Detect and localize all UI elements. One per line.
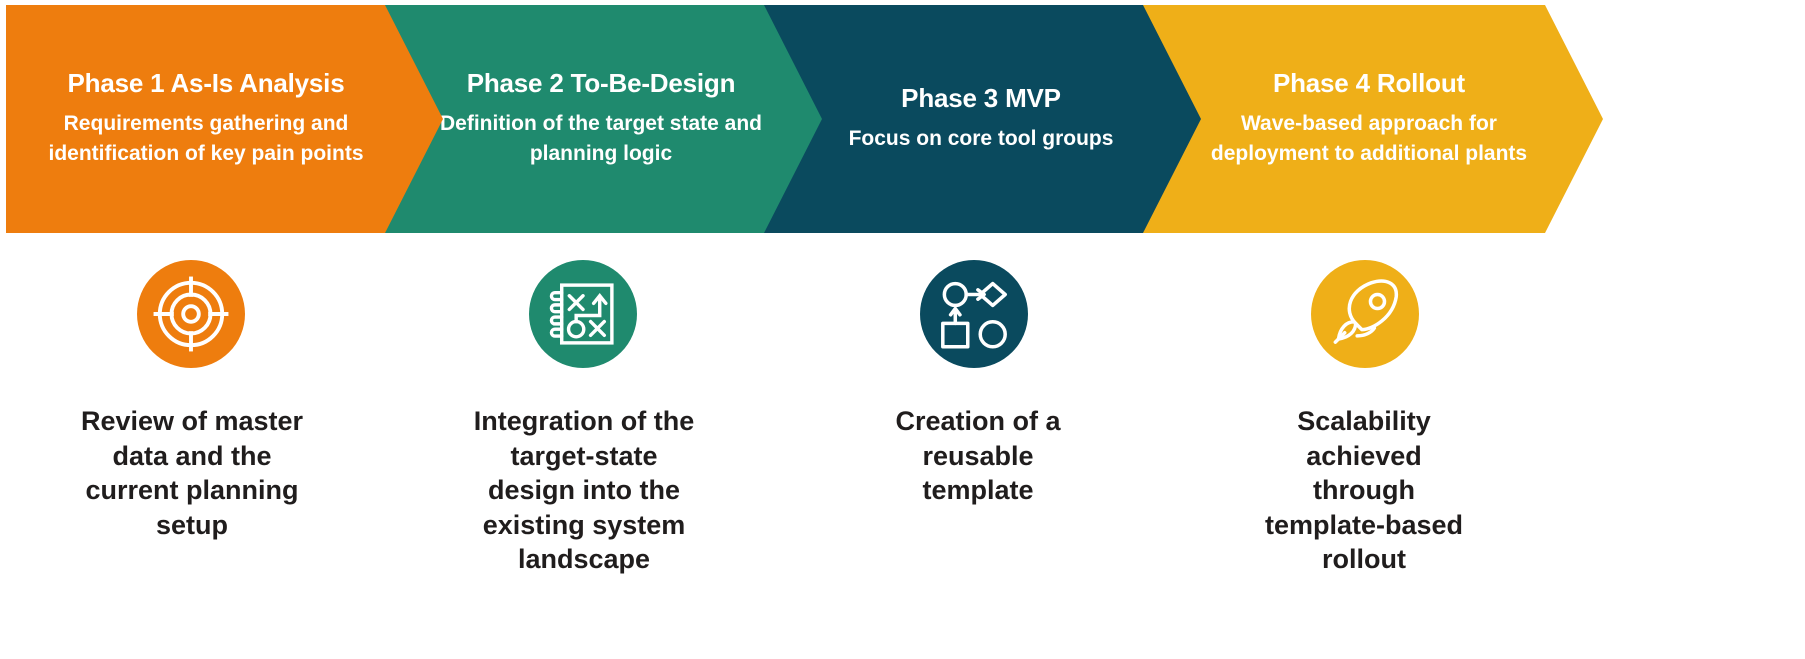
- chevron-title-3: Phase 3 MVP: [901, 84, 1061, 114]
- workflow-template-icon: [920, 260, 1028, 368]
- caption-phase-1: Review of master data and the current pl…: [72, 404, 312, 542]
- chevron-band: Phase 1 As-Is Analysis Requirements gath…: [0, 0, 1805, 238]
- chevron-phase-2[interactable]: Phase 2 To-Be-Design Definition of the t…: [385, 5, 825, 233]
- chevron-subtitle-2: Definition of the target state and plann…: [437, 109, 765, 169]
- chevron-phase-1[interactable]: Phase 1 As-Is Analysis Requirements gath…: [6, 5, 446, 233]
- chevron-phase-3[interactable]: Phase 3 MVP Focus on core tool groups: [764, 5, 1204, 233]
- chevron-title-1: Phase 1 As-Is Analysis: [68, 69, 345, 99]
- chevron-subtitle-1: Requirements gathering and identificatio…: [28, 109, 384, 169]
- chevron-subtitle-4: Wave-based approach for deployment to ad…: [1205, 109, 1533, 169]
- rocket-launch-icon: [1311, 260, 1419, 368]
- chevron-subtitle-3: Focus on core tool groups: [849, 124, 1114, 154]
- strategy-playbook-icon: [529, 260, 637, 368]
- target-crosshair-icon: [137, 260, 245, 368]
- chevron-title-2: Phase 2 To-Be-Design: [467, 69, 736, 99]
- caption-phase-2: Integration of the target-state design i…: [470, 404, 698, 577]
- chevron-phase-4[interactable]: Phase 4 Rollout Wave-based approach for …: [1143, 5, 1603, 233]
- process-flow-diagram: Phase 1 As-Is Analysis Requirements gath…: [0, 0, 1805, 659]
- caption-phase-4: Scalability achieved through template-ba…: [1258, 404, 1470, 577]
- chevron-title-4: Phase 4 Rollout: [1273, 69, 1465, 99]
- caption-phase-3: Creation of a reusable template: [872, 404, 1084, 508]
